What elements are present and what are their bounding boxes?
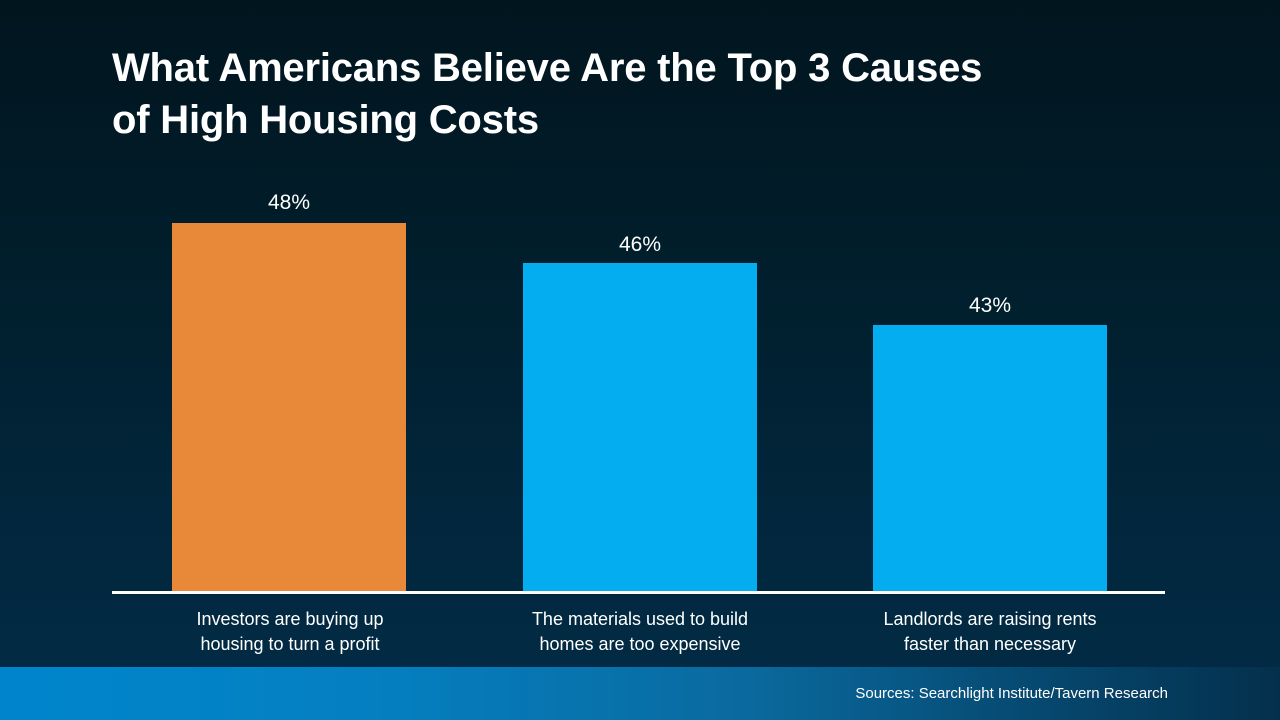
bar-value-label-3: 43% xyxy=(873,294,1107,318)
category-label-3: Landlords are raising rents faster than … xyxy=(815,607,1165,657)
sources-note: Sources: Searchlight Institute/Tavern Re… xyxy=(855,685,1168,703)
bar-value-label-1: 48% xyxy=(172,191,406,215)
category-label-1: Investors are buying up housing to turn … xyxy=(115,607,465,657)
bar-column-1: 48% xyxy=(172,180,406,593)
bar-chart-plot: 48% 46% 43% xyxy=(112,180,1168,593)
slide-canvas: What Americans Believe Are the Top 3 Cau… xyxy=(0,0,1280,720)
page-title: What Americans Believe Are the Top 3 Cau… xyxy=(112,42,1112,146)
bar-rect-3[interactable] xyxy=(873,325,1107,593)
bar-rect-1[interactable] xyxy=(172,223,406,593)
bar-value-label-2: 46% xyxy=(523,233,757,257)
chart-axis-line xyxy=(112,591,1165,594)
bar-column-2: 46% xyxy=(523,180,757,593)
bar-rect-2[interactable] xyxy=(523,263,757,593)
category-label-2: The materials used to build homes are to… xyxy=(465,607,815,657)
bar-column-3: 43% xyxy=(873,180,1107,593)
